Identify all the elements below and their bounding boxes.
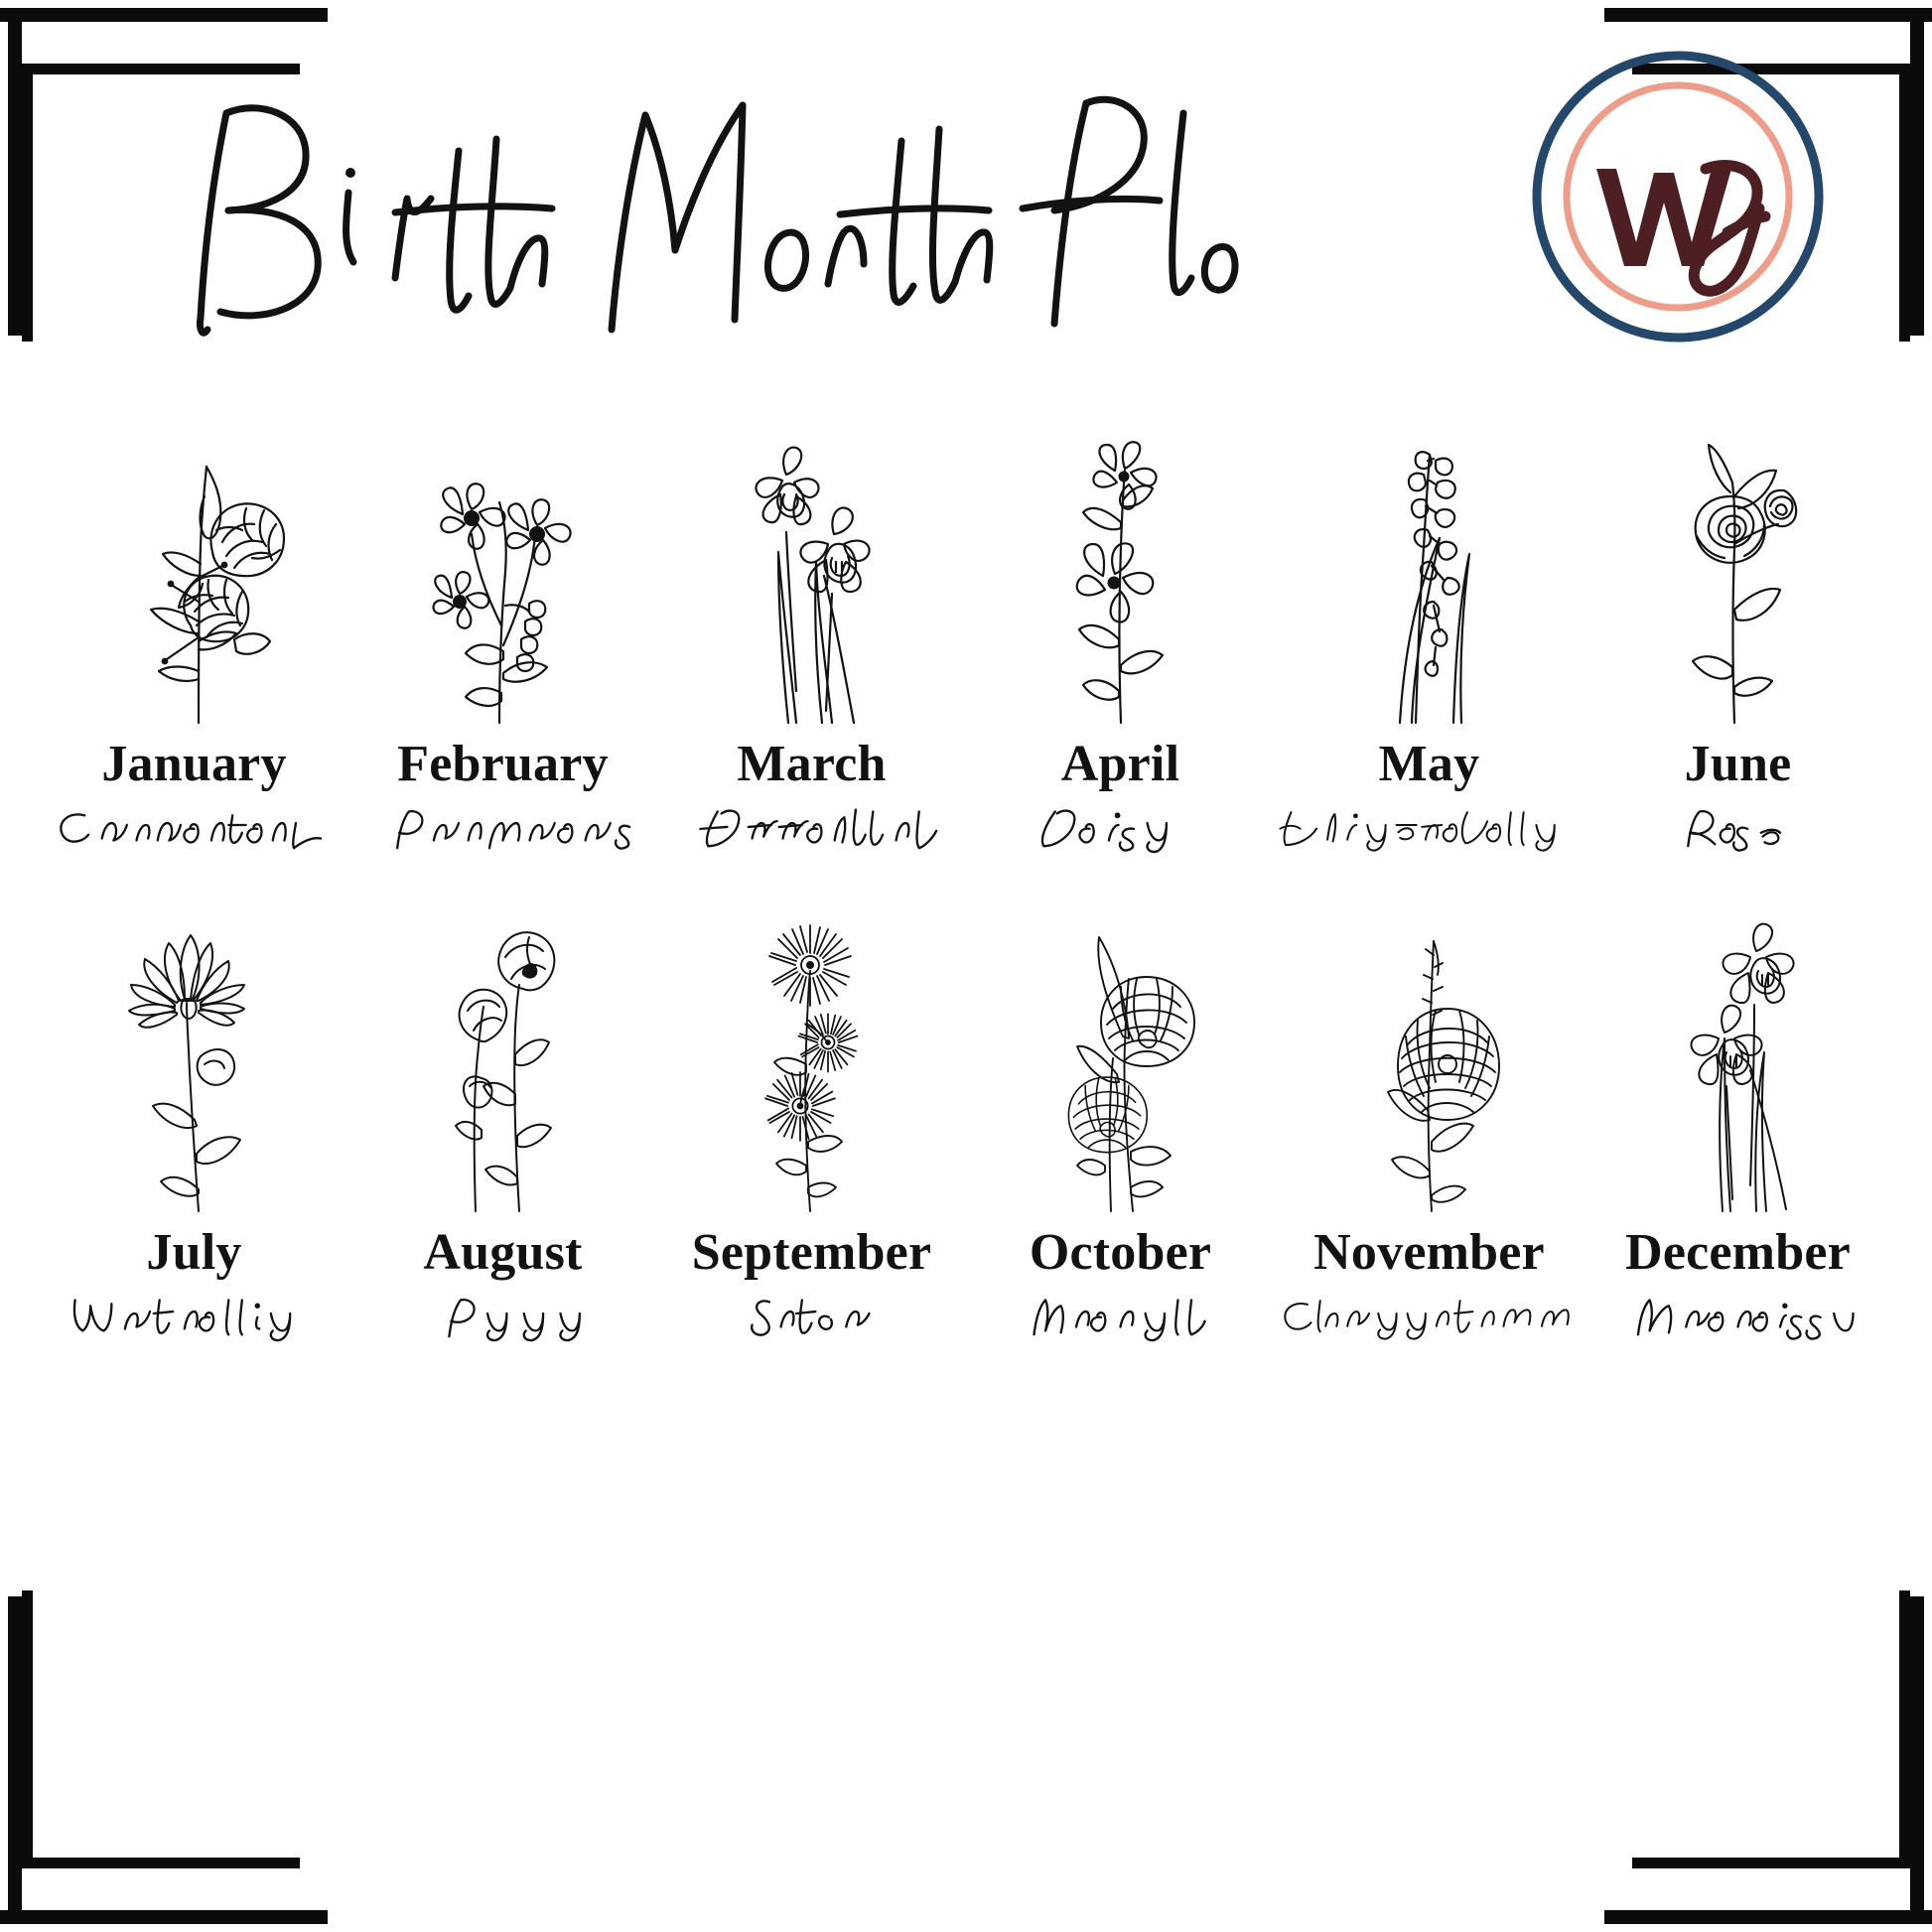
flower-name-may: Lily of the Valley xyxy=(1275,796,1584,854)
flower-cell-april[interactable]: April Daisy xyxy=(966,427,1275,854)
flower-row-2: July Waterlily xyxy=(40,915,1892,1342)
brand-logo xyxy=(1529,48,1827,345)
flower-cell-march[interactable]: March Daffodil xyxy=(657,427,966,854)
poster-header: Birth Month Flowers xyxy=(0,0,1932,397)
month-label: December xyxy=(1625,1227,1851,1279)
frame-bar-inner-horizontal xyxy=(22,1858,300,1868)
month-label: September xyxy=(692,1227,932,1279)
frame-bar-outer-vertical xyxy=(8,1596,22,1924)
chrysanthemum-icon xyxy=(1275,915,1584,1213)
aster-icon xyxy=(657,915,966,1213)
flower-name-march: Daffodil xyxy=(657,796,966,854)
month-label: August xyxy=(423,1227,582,1279)
waterlily-icon xyxy=(40,915,348,1213)
daisy-icon xyxy=(966,427,1275,725)
flower-cell-february[interactable]: February Primrose xyxy=(348,427,657,854)
flower-cell-october[interactable]: October Marigold xyxy=(966,915,1275,1342)
rose-icon xyxy=(1584,427,1892,725)
marigold-icon xyxy=(966,915,1275,1213)
frame-bar-inner-horizontal xyxy=(1632,1858,1910,1868)
flower-cell-august[interactable]: August Poppy xyxy=(348,915,657,1342)
flower-cell-november[interactable]: November Chrysanthemum xyxy=(1275,915,1584,1342)
month-label: April xyxy=(1061,739,1179,790)
flower-row-1: January Carnation xyxy=(40,427,1892,854)
month-label: January xyxy=(101,739,286,790)
flower-grid: January Carnation xyxy=(40,427,1892,1342)
frame-bar-outer-vertical xyxy=(1910,1596,1924,1924)
page-title: Birth Month Flowers xyxy=(109,69,1241,338)
flower-name-july: Waterlily xyxy=(40,1285,348,1342)
month-label: June xyxy=(1685,739,1792,790)
flower-cell-july[interactable]: July Waterlily xyxy=(40,915,348,1342)
month-label: October xyxy=(1030,1227,1211,1279)
poppy-icon xyxy=(348,915,657,1213)
flower-name-september: Aster xyxy=(657,1285,966,1342)
primrose-icon xyxy=(348,427,657,725)
flower-cell-january[interactable]: January Carnation xyxy=(40,427,348,854)
frame-bar-inner-vertical xyxy=(22,1590,33,1868)
flower-name-december: Narcissus xyxy=(1584,1285,1892,1342)
flower-name-august: Poppy xyxy=(348,1285,657,1342)
month-label: November xyxy=(1313,1227,1545,1279)
flower-cell-may[interactable]: May Lily of the Valley xyxy=(1275,427,1584,854)
daffodil-icon xyxy=(657,427,966,725)
poster-canvas: Birth Month Flowers xyxy=(0,0,1932,1932)
flower-name-october: Marigold xyxy=(966,1285,1275,1342)
flower-cell-december[interactable]: December Narcissus xyxy=(1584,915,1892,1342)
flower-name-november: Chrysanthemum xyxy=(1275,1285,1584,1342)
lily-of-the-valley-icon xyxy=(1275,427,1584,725)
flower-name-april: Daisy xyxy=(966,796,1275,854)
carnation-icon xyxy=(40,427,348,725)
month-label: February xyxy=(397,739,608,790)
flower-cell-september[interactable]: September Aster xyxy=(657,915,966,1342)
flower-name-january: Carnation xyxy=(40,796,348,854)
month-label: May xyxy=(1379,739,1480,790)
month-label: March xyxy=(737,739,886,790)
flower-name-february: Primrose xyxy=(348,796,657,854)
flower-name-june: Rose xyxy=(1584,796,1892,854)
frame-bar-outer-horizontal xyxy=(1604,1910,1932,1924)
narcissus-icon xyxy=(1584,915,1892,1213)
flower-cell-june[interactable]: June Rose xyxy=(1584,427,1892,854)
frame-bar-inner-vertical xyxy=(1899,1590,1910,1868)
month-label: July xyxy=(146,1227,241,1279)
frame-bar-outer-horizontal xyxy=(0,1910,328,1924)
